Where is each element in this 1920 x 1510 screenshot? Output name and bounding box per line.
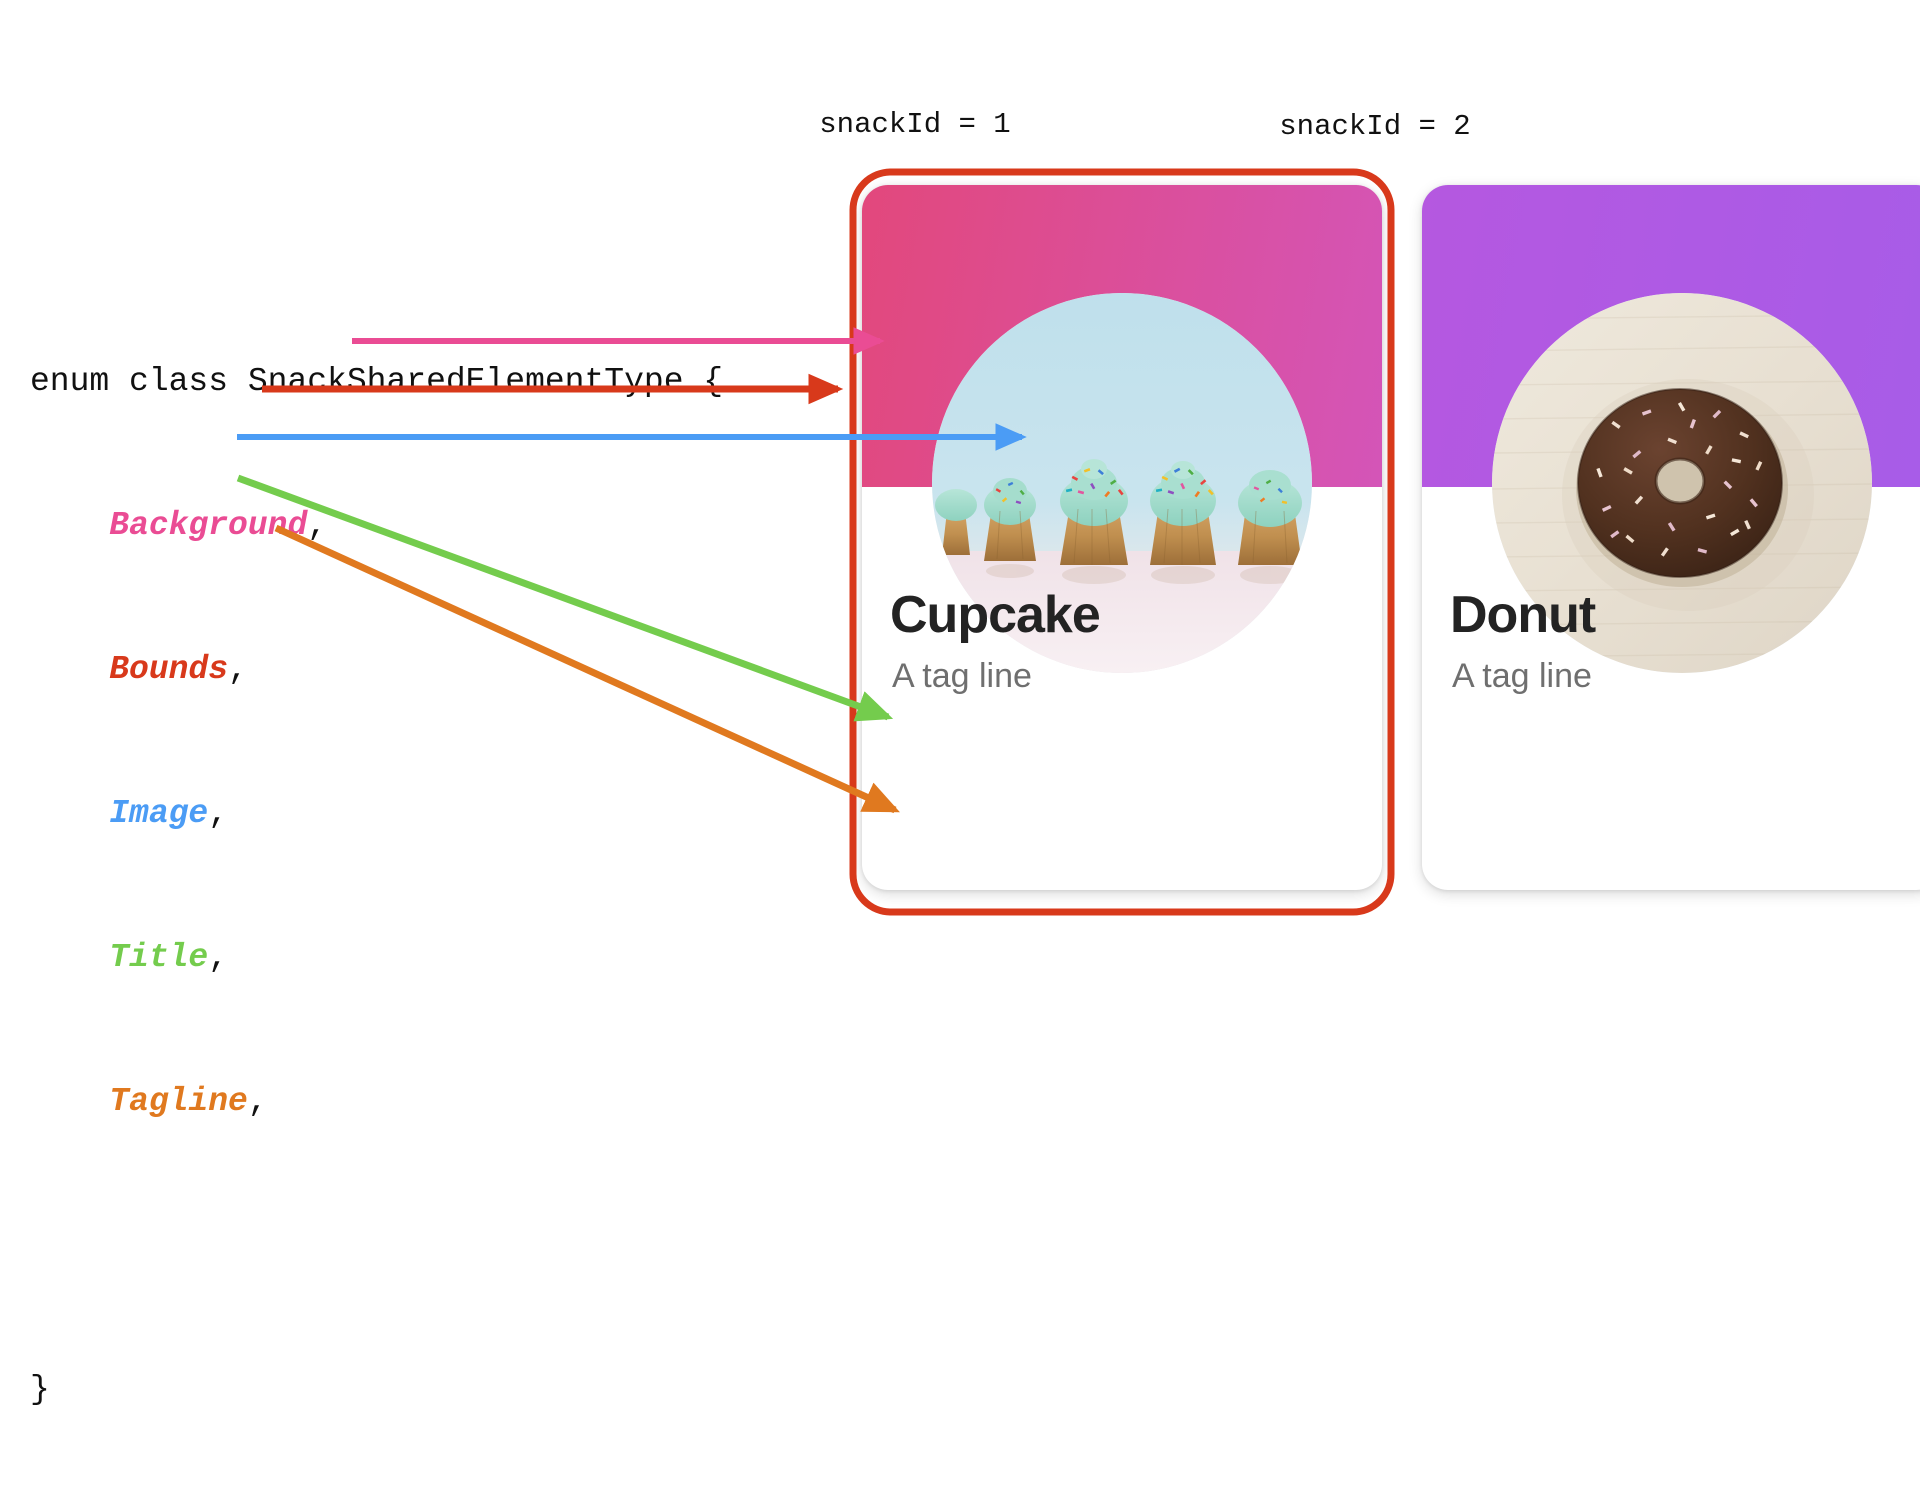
code-line-bounds: Bounds,	[30, 646, 723, 694]
code-text-enum-declaration: enum class SnackSharedElementType {	[30, 363, 723, 400]
enum-entry-background: Background	[109, 507, 307, 544]
comma-after-image: ,	[208, 795, 228, 832]
enum-entry-bounds: Bounds	[109, 651, 228, 688]
enum-entry-title: Title	[109, 939, 208, 976]
comma-after-title: ,	[208, 939, 228, 976]
code-line-title: Title,	[30, 934, 723, 982]
card1-tagline: A tag line	[892, 657, 1032, 696]
code-text-closing-brace: }	[30, 1371, 50, 1408]
snack-card-cupcake[interactable]: Cupcake A tag line	[862, 185, 1382, 890]
card-header-snackid-2: snackId = 2	[1250, 110, 1500, 143]
code-line-image: Image,	[30, 790, 723, 838]
snack-card-donut[interactable]: Donut A tag line	[1422, 185, 1920, 890]
comma-after-background: ,	[307, 507, 327, 544]
code-line-background: Background,	[30, 502, 723, 550]
enum-entry-image: Image	[109, 795, 208, 832]
card2-tagline: A tag line	[1452, 657, 1592, 696]
code-line-blank	[30, 1222, 723, 1270]
comma-after-bounds: ,	[228, 651, 248, 688]
code-line-closing-brace: }	[30, 1366, 723, 1414]
code-line-enum-declaration: enum class SnackSharedElementType {	[30, 358, 723, 406]
code-block: enum class SnackSharedElementType { Back…	[30, 262, 723, 1510]
comma-after-tagline: ,	[248, 1083, 268, 1120]
enum-entry-tagline: Tagline	[109, 1083, 248, 1120]
card2-title: Donut	[1450, 585, 1595, 645]
diagram-canvas: enum class SnackSharedElementType { Back…	[0, 0, 1920, 1080]
code-line-tagline: Tagline,	[30, 1078, 723, 1126]
card1-title: Cupcake	[890, 585, 1100, 645]
card-header-snackid-1: snackId = 1	[790, 108, 1040, 141]
